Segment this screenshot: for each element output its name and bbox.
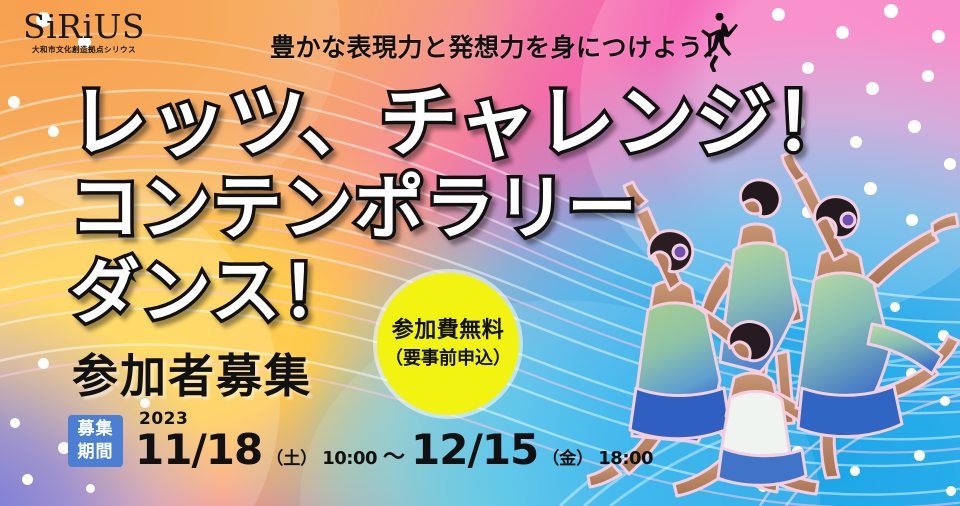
period-start-day: （土） <box>266 444 317 469</box>
free-participation-badge: 参加費無料 （要事前申込） <box>377 273 519 415</box>
period-separator: ～ <box>383 439 405 471</box>
period-tag-line-1: 募集 <box>78 418 114 441</box>
period-tag-badge: 募集 期間 <box>68 415 123 467</box>
period-start-date: 11/18 <box>135 429 262 471</box>
headline-line-2: コンテンポラリー <box>70 166 853 250</box>
logo-subtitle: 大和市文化創造拠点シリウス <box>22 46 146 54</box>
logo-wordmark: SiRiUS <box>22 10 146 43</box>
headline-line-1: レッツ、チャレンジ！ <box>70 80 853 166</box>
period-end-day: （金） <box>542 444 593 469</box>
dancer-silhouette-icon <box>686 6 746 72</box>
period-end-time: 18:00 <box>598 448 653 469</box>
period-tag-line-2: 期間 <box>78 441 114 464</box>
badge-line-2: （要事前申込） <box>385 347 511 370</box>
badge-line-1: 参加費無料 <box>392 318 505 344</box>
period-start-time: 10:00 <box>322 448 377 469</box>
catchcopy-text: 豊かな表現力と発想力を身につけよう！ <box>270 28 729 64</box>
poster-banner: SiRiUS 大和市文化創造拠点シリウス 豊かな表現力と発想力を身につけよう！ … <box>0 0 960 506</box>
period-end-date: 12/15 <box>411 429 538 471</box>
recruit-text: 参加者募集 <box>72 340 312 406</box>
period-range: 11/18 （土） 10:00 ～ 12/15 （金） 18:00 <box>135 429 653 471</box>
sirius-logo[interactable]: SiRiUS 大和市文化創造拠点シリウス <box>22 10 146 54</box>
period-body: 2023 11/18 （土） 10:00 ～ 12/15 （金） 18:00 <box>135 411 653 471</box>
application-period: 募集 期間 2023 11/18 （土） 10:00 ～ 12/15 （金） 1… <box>68 411 653 471</box>
